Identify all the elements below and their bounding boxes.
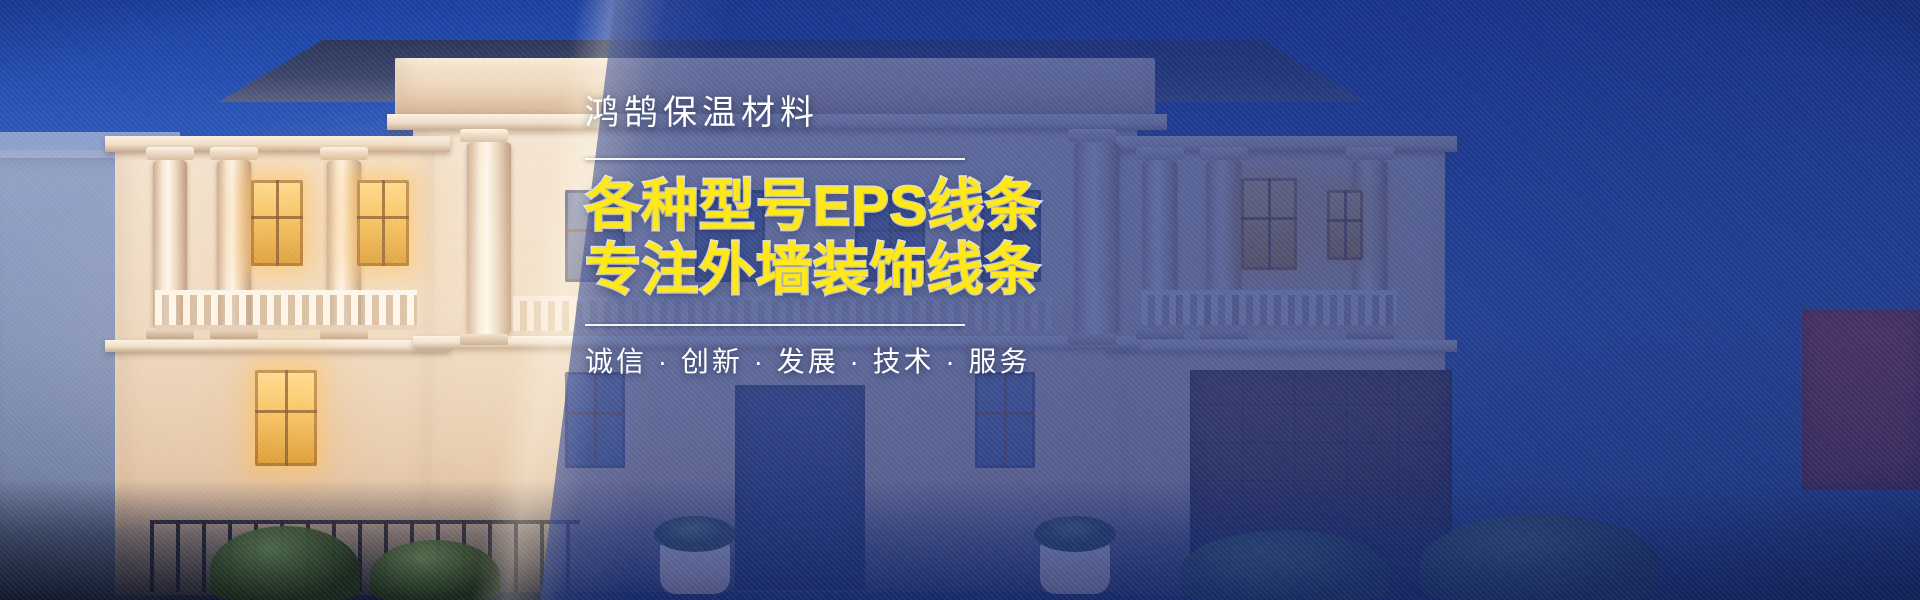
headline: 各种型号EPS线条 专注外墙装饰线条	[585, 174, 1005, 302]
divider-bottom	[585, 324, 965, 326]
banner-text-block: 鸿鹄保温材料 各种型号EPS线条 专注外墙装饰线条 诚信 · 创新 · 发展 ·…	[585, 96, 1005, 376]
hero-banner: 鸿鹄保温材料 各种型号EPS线条 专注外墙装饰线条 诚信 · 创新 · 发展 ·…	[0, 0, 1920, 600]
headline-line-1: 各种型号EPS线条	[585, 174, 1005, 238]
brand-name: 鸿鹄保温材料	[585, 96, 1005, 130]
headline-line-2: 专注外墙装饰线条	[585, 238, 1005, 302]
tagline: 诚信 · 创新 · 发展 · 技术 · 服务	[585, 348, 1005, 376]
divider-top	[585, 158, 965, 160]
